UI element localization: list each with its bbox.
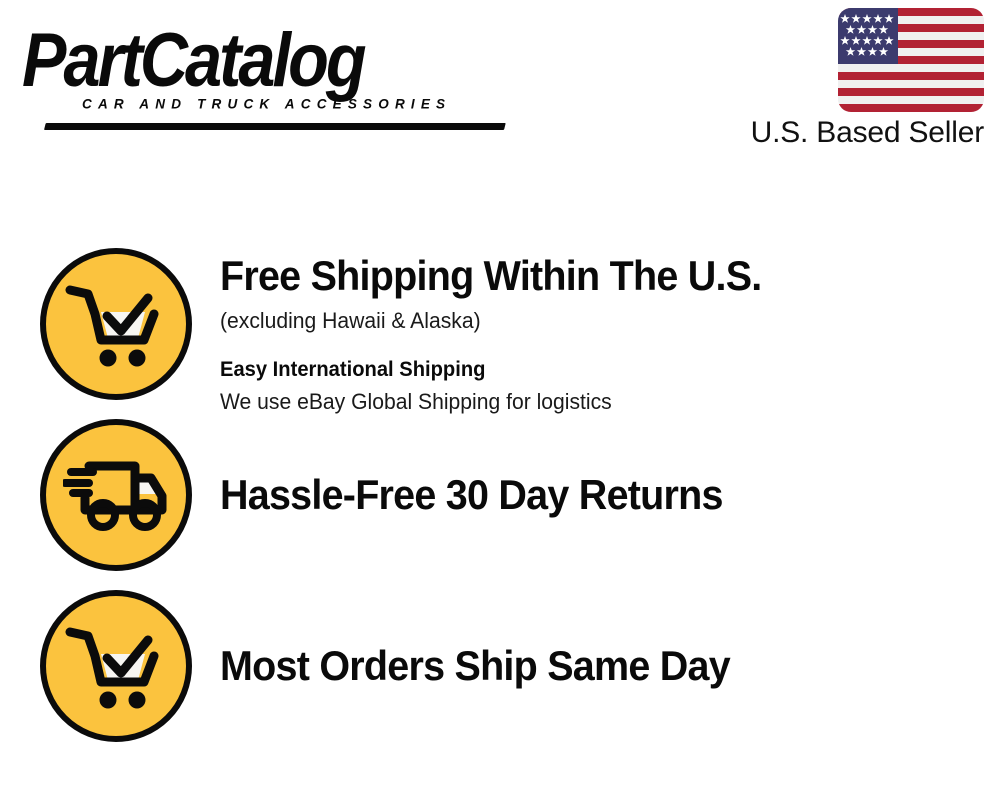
feature-subtext-note: We use eBay Global Shipping for logistic… [220,388,911,417]
feature-heading: Free Shipping Within The U.S. [220,252,897,299]
feature-heading: Hassle-Free 30 Day Returns [220,471,897,518]
us-flag-icon [838,8,984,112]
partcatalog-logo: PartCatalog CAR AND TRUCK ACCESSORIES [22,22,492,112]
cart-check-icon [40,590,192,742]
logo-underline-stroke [44,123,506,130]
feature-subtext: (excluding Hawaii & Alaska) [220,307,911,336]
feature-text-block: Most Orders Ship Same Day [192,642,940,689]
logo-tagline: CAR AND TRUCK ACCESSORIES [82,96,451,112]
feature-row: Hassle-Free 30 Day Returns [40,419,940,571]
us-based-seller-label: U.S. Based Seller [751,116,984,150]
feature-subtext-strong: Easy International Shipping [220,356,911,383]
flag-canton [838,8,898,64]
feature-heading: Most Orders Ship Same Day [220,642,897,689]
logo-wordmark: PartCatalog [22,22,364,98]
cart-check-icon [40,248,192,400]
promo-banner: PartCatalog CAR AND TRUCK ACCESSORIES [0,0,1000,800]
delivery-truck-icon [40,419,192,571]
feature-text-block: Hassle-Free 30 Day Returns [192,471,940,518]
feature-text-block: Free Shipping Within The U.S. (excluding… [192,248,940,417]
feature-row: Free Shipping Within The U.S. (excluding… [40,248,940,417]
us-based-seller-badge: U.S. Based Seller [716,8,986,158]
banner-header: PartCatalog CAR AND TRUCK ACCESSORIES [0,0,1000,175]
feature-row: Most Orders Ship Same Day [40,590,940,742]
